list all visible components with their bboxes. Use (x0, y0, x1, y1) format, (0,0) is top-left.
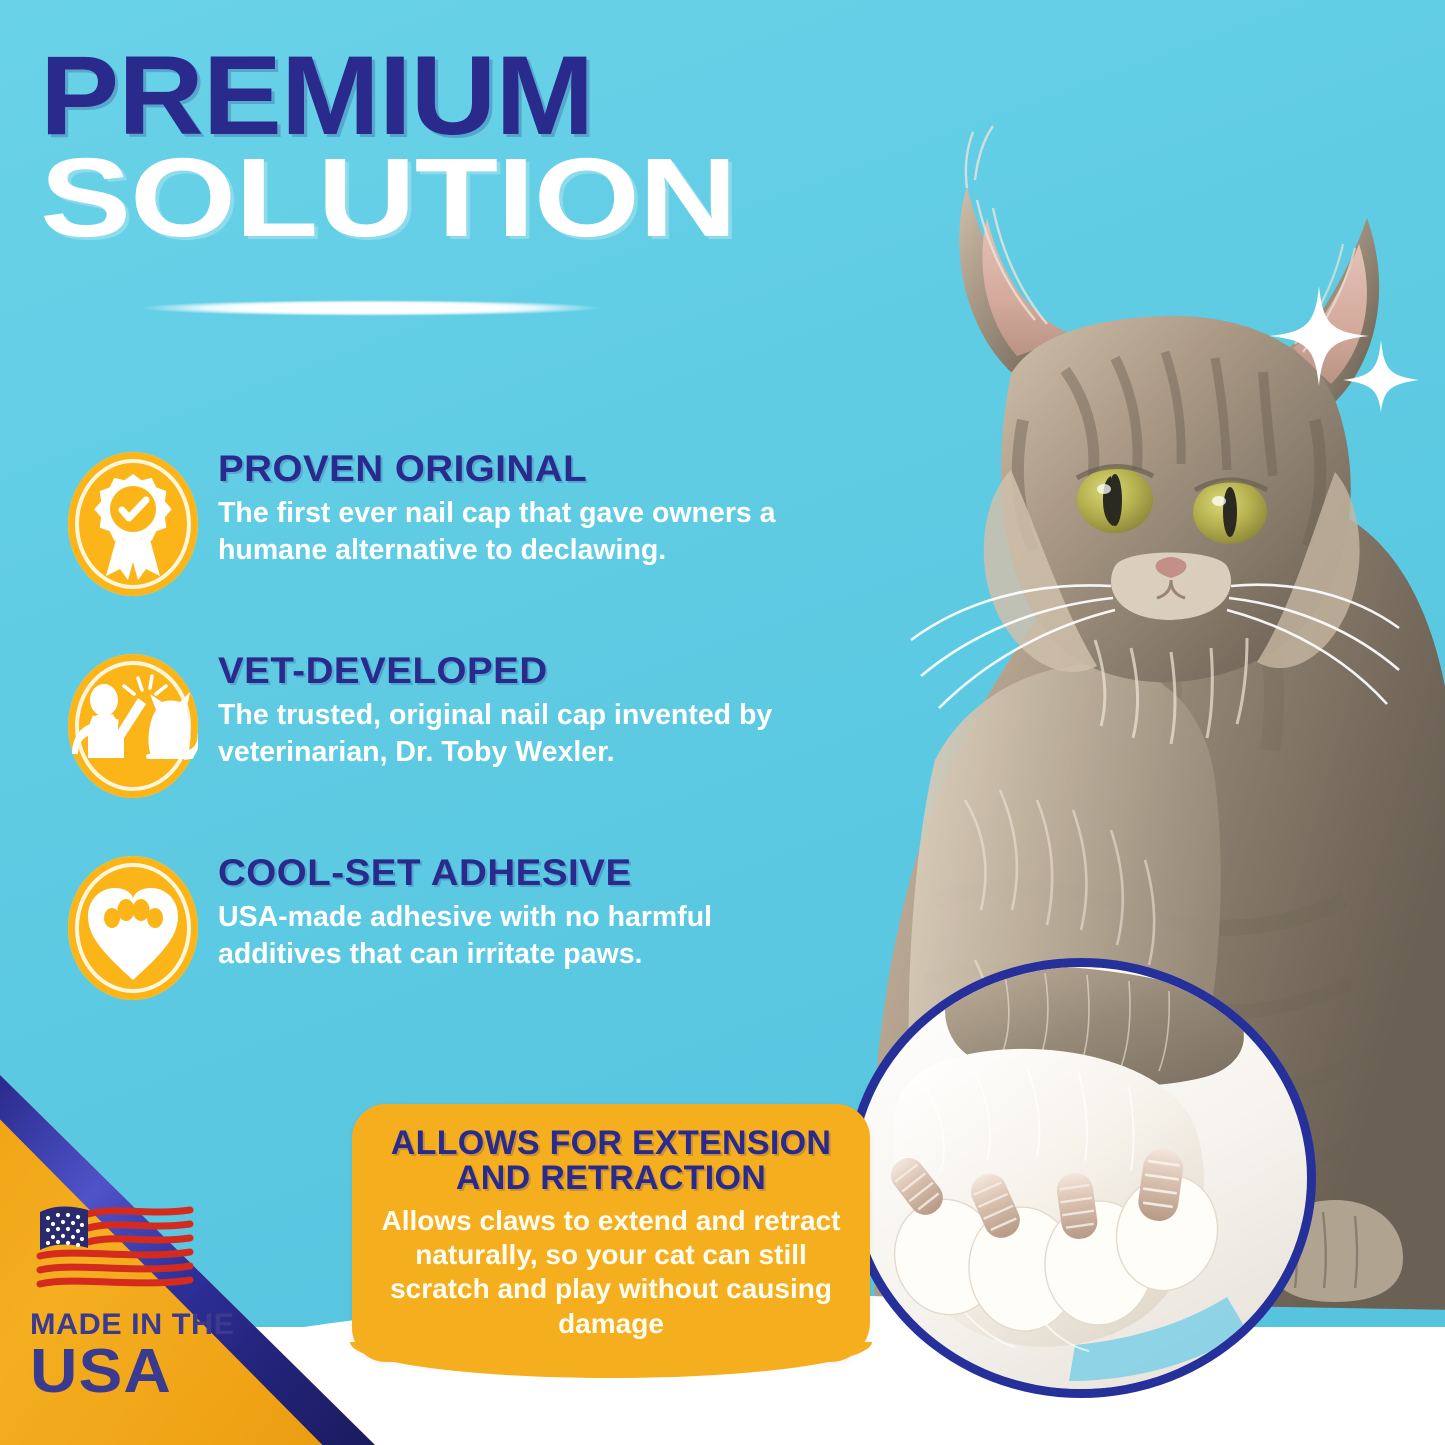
cat-paw-with-nail-caps-photo (855, 967, 1316, 1398)
feature-body: PROVEN ORIGINAL The first ever nail cap … (218, 448, 822, 569)
feature-item: VET-DEVELOPED The trusted, original nail… (62, 650, 822, 800)
feature-title: COOL-SET ADHESIVE (218, 854, 846, 892)
feature-item: COOL-SET ADHESIVE USA-made adhesive with… (62, 852, 822, 1002)
sparkle-icon (1261, 280, 1421, 415)
callout-title: ALLOWS FOR EXTENSION AND RETRACTION (352, 1104, 870, 1196)
feature-list: PROVEN ORIGINAL The first ever nail cap … (62, 448, 822, 1054)
paw-closeup-inset (846, 958, 1316, 1398)
paw-inset-ring (846, 958, 1316, 1398)
feature-body: COOL-SET ADHESIVE USA-made adhesive with… (218, 852, 822, 973)
callout-description: Allows claws to extend and retract natur… (352, 1196, 870, 1341)
feature-title: PROVEN ORIGINAL (218, 450, 846, 488)
feature-icon-wrap (62, 448, 204, 598)
made-in-usa-line-2: USA (30, 1340, 274, 1403)
headline-divider (140, 300, 600, 316)
feature-description: USA-made adhesive with no harmful additi… (218, 899, 818, 973)
headline: PREMIUM SOLUTION (40, 48, 840, 247)
feature-body: VET-DEVELOPED The trusted, original nail… (218, 650, 822, 771)
feature-icon-wrap (62, 852, 204, 1002)
made-in-usa-line-1: MADE IN THE (30, 1310, 265, 1340)
headline-line-1: PREMIUM (40, 48, 888, 144)
usa-flag-icon (30, 1200, 198, 1298)
made-in-usa-badge: MADE IN THE USA (30, 1200, 260, 1403)
feature-item: PROVEN ORIGINAL The first ever nail cap … (62, 448, 822, 598)
heart-paw-icon (68, 856, 198, 1000)
vet-highfive-cat-icon (68, 654, 198, 798)
award-ribbon-icon (68, 452, 198, 596)
feature-description: The first ever nail cap that gave owners… (218, 495, 818, 569)
headline-line-2: SOLUTION (40, 150, 1016, 246)
feature-description: The trusted, original nail cap invented … (218, 697, 818, 771)
made-in-usa-peel: MADE IN THE USA (0, 1075, 375, 1445)
feature-title: VET-DEVELOPED (218, 652, 846, 690)
extension-retraction-callout: ALLOWS FOR EXTENSION AND RETRACTION Allo… (352, 1104, 870, 1362)
product-infographic: PREMIUM SOLUTION (0, 0, 1445, 1445)
feature-icon-wrap (62, 650, 204, 800)
